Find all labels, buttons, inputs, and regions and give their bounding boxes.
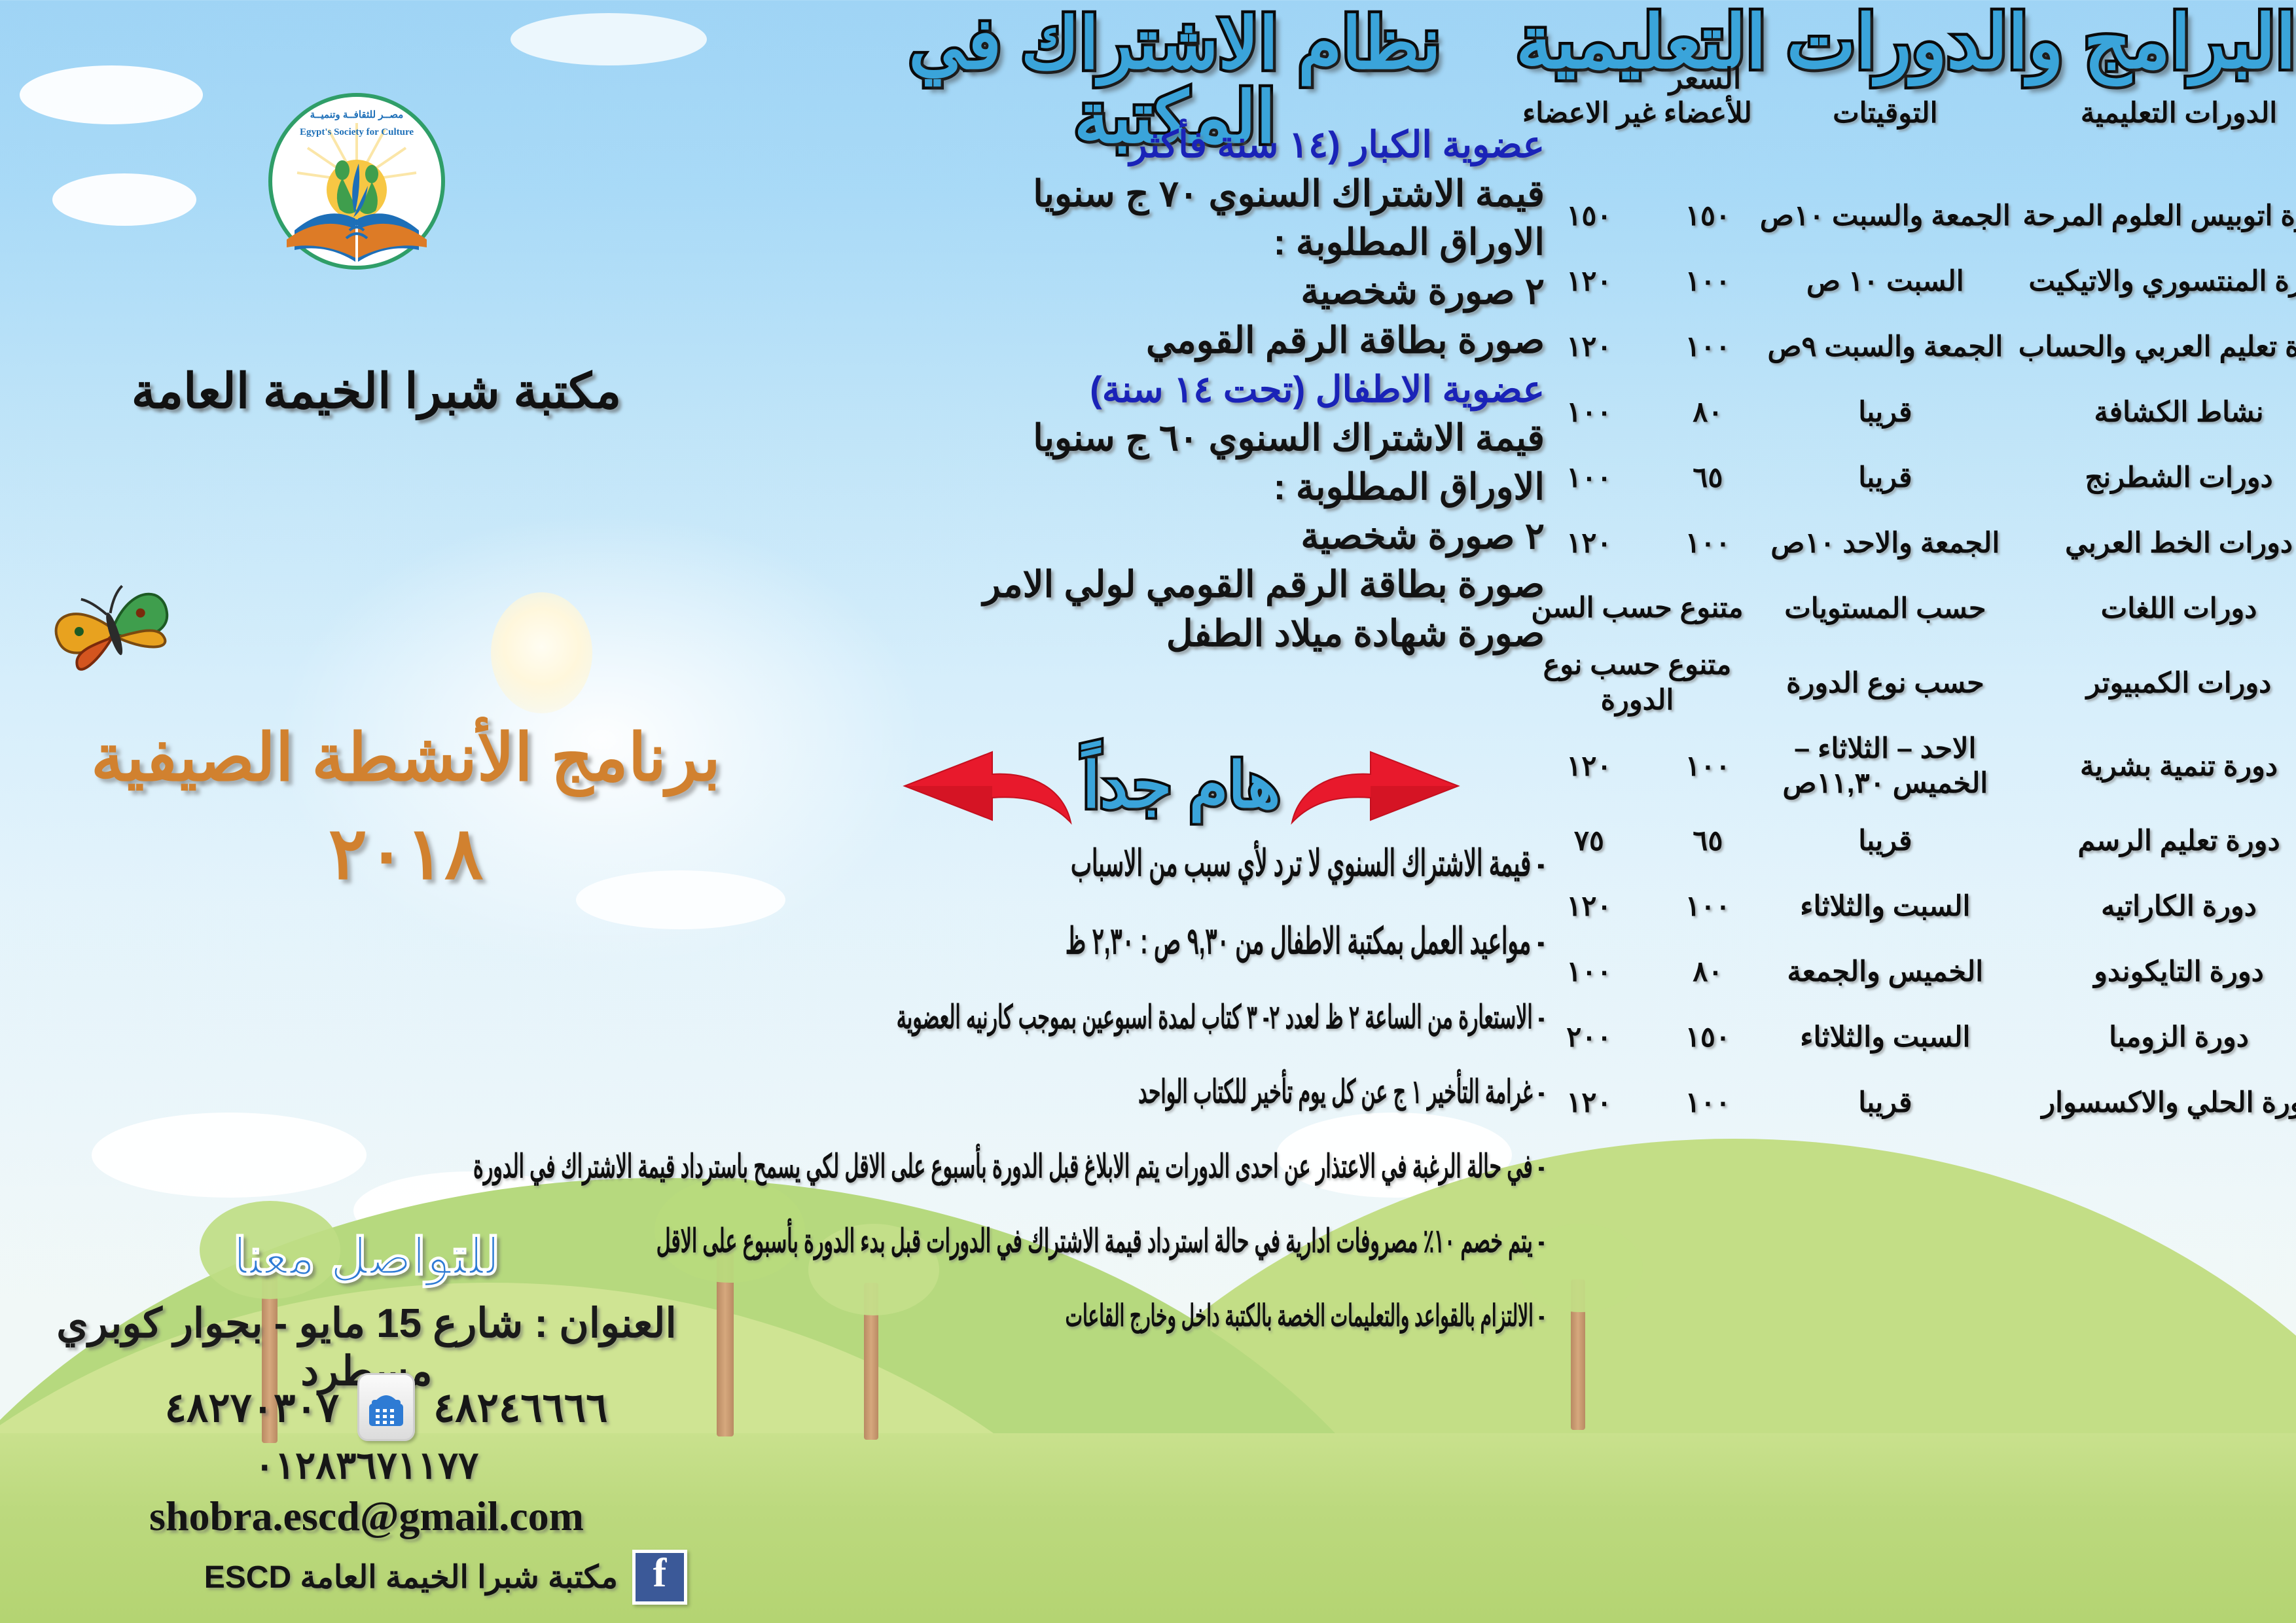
rule-item: - في حالة الرغبة في الاعتذار عن احدى الد… [740,1148,1545,1186]
table-row: دورات الكمبيوترحسب نوع الدورةمتنوع حسب ن… [1518,641,2296,725]
logo-arabic-text: مصــر للثقافــة وتنميــة [310,109,404,120]
email-address: shobra.escd@gmail.com [39,1492,694,1541]
table-row: دورة الكاراتيهالسبت والثلاثاء١٠٠١٢٠ [1518,874,2296,939]
arrow-left-icon [899,743,1076,828]
table-row: دورة الزومباالسبت والثلاثاء١٥٠٢٠٠ [1518,1005,2296,1070]
membership-line: صورة بطاقة الرقم القومي [805,320,1545,361]
cell-non-members: ١٢٠ [1518,874,1660,939]
membership-block: عضوية الكبار (١٤ سنة فأكثرقيمة الاشتراك … [805,124,1545,662]
cell-times: قريبا [1756,1070,2015,1135]
butterfly-decoration [39,563,190,694]
cell-members: ٦٥ [1660,808,1756,874]
cell-times: قريبا [1756,808,2015,874]
cell-course: دورة المنتسوري والاتيكيت [2015,249,2296,314]
cell-times: قريبا [1756,445,2015,510]
cell-course: دورة تعليم الرسم [2015,808,2296,874]
table-row: دورة تعليم الرسمقريبا٦٥٧٥ [1518,808,2296,874]
cell-times: الاحد – الثلاثاء – الخميس ١١,٣٠ص [1756,725,2015,809]
summer-program-year: ٢٠١٨ [79,811,733,895]
cell-course: دورات الكمبيوتر [2015,641,2296,725]
cell-times: الجمعة والاحد ١٠ص [1756,510,2015,576]
header-non-members: غير الاعضاء [1518,85,1660,183]
phone-number-2: ٤٨٢٧٠٣٠٧ [165,1383,339,1431]
cloud-5 [92,1113,367,1198]
cell-non-members: ٢٠٠ [1518,1005,1660,1070]
library-name: مكتبة شبرا الخيمة العامة [0,363,753,419]
cell-non-members: ٧٥ [1518,808,1660,874]
rule-item: - يتم خصم ١٠٪ مصروفات ادارية في حالة است… [740,1222,1545,1261]
summer-program-title: برنامج الأنشطة الصيفية [79,723,733,793]
cell-course: دورات الخط العربي [2015,510,2296,576]
cell-non-members: ١٢٠ [1518,249,1660,314]
cell-times: حسب المستويات [1756,576,2015,641]
cell-members: ٦٥ [1660,445,1756,510]
table-row: دورة الحلي والاكسسوارقريبا١٠٠١٢٠ [1518,1070,2296,1135]
membership-line: الاوراق المطلوبة : [805,222,1545,263]
table-row: دورة تنمية بشريةالاحد – الثلاثاء – الخمي… [1518,725,2296,809]
cell-members: ١٠٠ [1660,314,1756,380]
header-members: للأعضاء [1660,85,1756,183]
rule-item: - غرامة التأخير ١ ج عن كل يوم تأخير للكت… [740,1073,1545,1112]
membership-line: ٢ صورة شخصية [805,271,1545,312]
cell-members: متنوع حسب نوع الدورة [1518,641,1756,725]
courses-table: الدورات التعليمية التوقيتات للأعضاء غير … [1518,85,2296,1135]
cell-members: ٨٠ [1660,380,1756,445]
cell-members: ١٠٠ [1660,249,1756,314]
facebook-row[interactable]: f مكتبة شبرا الخيمة العامة ESCD [98,1544,687,1610]
membership-heading: عضوية الكبار (١٤ سنة فأكثر [805,124,1545,166]
membership-line: الاوراق المطلوبة : [805,467,1545,508]
cell-members: ١٥٠ [1660,183,1756,249]
cell-non-members: ١٠٠ [1518,380,1660,445]
facebook-page-name: مكتبة شبرا الخيمة العامة ESCD [204,1559,618,1596]
cell-course: دورات الشطرنج [2015,445,2296,510]
table-header-row: الدورات التعليمية التوقيتات للأعضاء غير … [1518,85,2296,183]
cell-members: ١٠٠ [1660,874,1756,939]
cell-non-members: ١٠٠ [1518,939,1660,1005]
cell-course: نشاط الكشافة [2015,380,2296,445]
cell-course: دورة تنمية بشرية [2015,725,2296,809]
membership-heading: عضوية الاطفال (تحت ١٤ سنة) [805,369,1545,410]
rule-item: - قيمة الاشتراك السنوي لا ترد لأي سبب من… [740,842,1545,886]
cell-non-members: ١٥٠ [1518,183,1660,249]
membership-line: قيمة الاشتراك السنوي ٧٠ ج سنويا [805,173,1545,215]
cell-times: السبت والثلاثاء [1756,874,2015,939]
cell-non-members: ١٢٠ [1518,510,1660,576]
cell-course: دورة اتوبيس العلوم المرحة [2015,183,2296,249]
cloud-1 [20,65,203,124]
cell-times: قريبا [1756,380,2015,445]
cell-times: الخميس والجمعة [1756,939,2015,1005]
cell-members: ١٠٠ [1660,1070,1756,1135]
membership-line: صورة بطاقة الرقم القومي لولي الامر [805,564,1545,605]
header-times: التوقيتات [1756,85,2015,183]
telephone-icon [357,1373,415,1441]
membership-line: ٢ صورة شخصية [805,516,1545,557]
contact-heading: للتواصل معنا [39,1227,694,1287]
cell-non-members: ١٢٠ [1518,1070,1660,1135]
membership-line: صورة شهادة ميلاد الطفل [805,613,1545,654]
escd-logo: مصــر للثقافــة وتنميــة Egypt's Society… [255,92,458,272]
cell-course: دورة التايكوندو [2015,939,2296,1005]
table-row: دورات اللغاتحسب المستوياتمتنوع حسب السن [1518,576,2296,641]
facebook-icon[interactable]: f [632,1550,687,1605]
cell-course: دورات اللغات [2015,576,2296,641]
rule-item: - مواعيد العمل بمكتبة الاطفال من ٩,٣٠ ص … [740,920,1545,964]
arrow-right-icon [1287,743,1463,828]
cell-members: ١٥٠ [1660,1005,1756,1070]
cell-members: ١٠٠ [1660,510,1756,576]
cell-course: دورة الحلي والاكسسوار [2015,1070,2296,1135]
table-row: دورات الخط العربيالجمعة والاحد ١٠ص١٠٠١٢٠ [1518,510,2296,576]
cell-members: ١٠٠ [1660,725,1756,809]
cell-times: الجمعة والسبت ١٠ص [1756,183,2015,249]
cell-course: دورة الزومبا [2015,1005,2296,1070]
cell-course: دورة تعليم العربي والحساب [2015,314,2296,380]
table-row: دورة اتوبيس العلوم المرحةالجمعة والسبت ١… [1518,183,2296,249]
cell-course: دورة الكاراتيه [2015,874,2296,939]
cloud-2 [52,173,196,226]
table-row: دورة التايكوندوالخميس والجمعة٨٠١٠٠ [1518,939,2296,1005]
cell-members: متنوع حسب السن [1518,576,1756,641]
table-row: دورة تعليم العربي والحسابالجمعة والسبت ٩… [1518,314,2296,380]
cell-members: ٨٠ [1660,939,1756,1005]
cell-times: الجمعة والسبت ٩ص [1756,314,2015,380]
phone-number-1: ٤٨٢٤٦٦٦٦ [433,1383,607,1431]
cell-non-members: ١٢٠ [1518,314,1660,380]
cell-non-members: ١٠٠ [1518,445,1660,510]
cell-times: السبت والثلاثاء [1756,1005,2015,1070]
sun [491,592,592,713]
table-row: نشاط الكشافةقريبا٨٠١٠٠ [1518,380,2296,445]
rule-item: - الاستعارة من الساعة ٢ ظ لعدد ٢- ٣ كتاب… [740,999,1545,1037]
logo-english-text: Egypt's Society for Culture [300,127,414,137]
cell-times: السبت ١٠ ص [1756,249,2015,314]
rule-item: - الالتزام بالقواعد والتعليمات الخصة بال… [740,1298,1545,1334]
rules-list: - قيمة الاشتراك السنوي لا ترد لأي سبب من… [740,851,1545,1378]
cloud-3 [511,13,707,65]
membership-line: قيمة الاشتراك السنوي ٦٠ ج سنويا [805,418,1545,459]
facebook-glyph: f [636,1553,684,1601]
cell-non-members: ١٢٠ [1518,725,1660,809]
cell-times: حسب نوع الدورة [1756,641,2015,725]
important-banner: هام جداً [831,733,1532,838]
phone-row: ٤٨٢٤٦٦٦٦ ٤٨٢٧٠٣٠٧ [52,1368,720,1446]
mobile-number: ٠١٢٨٣٦٧١١٧٧ [39,1443,694,1488]
table-row: دورة المنتسوري والاتيكيتالسبت ١٠ ص١٠٠١٢٠ [1518,249,2296,314]
important-text: هام جداً [1083,749,1280,822]
table-row: دورات الشطرنجقريبا٦٥١٠٠ [1518,445,2296,510]
header-course: الدورات التعليمية [2015,85,2296,183]
